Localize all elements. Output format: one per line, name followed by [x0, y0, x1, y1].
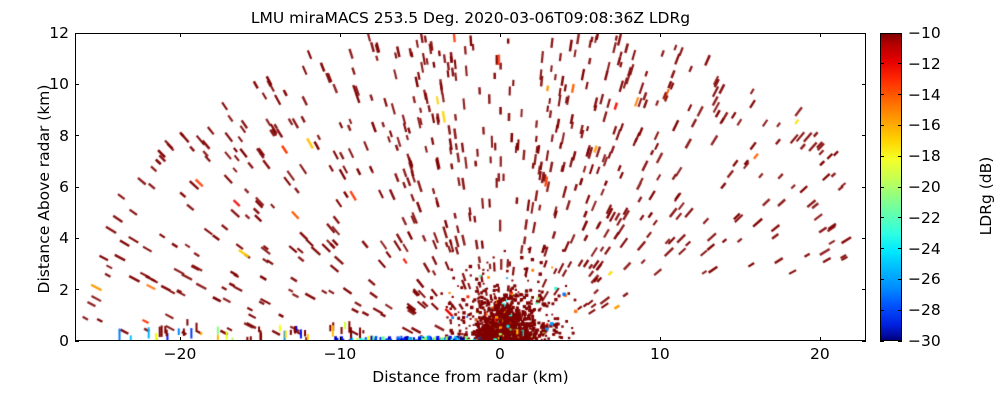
x-tick — [820, 337, 821, 341]
x-tick — [500, 33, 501, 37]
y-tick-left — [75, 341, 79, 342]
y-tick-label: 4 — [59, 229, 69, 247]
plot-axes[interactable] — [75, 33, 866, 341]
y-tick-right — [862, 289, 866, 290]
y-tick-right — [862, 187, 866, 188]
x-tick — [820, 33, 821, 37]
colorbar-tick-label: −18 — [908, 147, 941, 165]
colorbar-tick-right — [898, 94, 902, 95]
colorbar-tick-label: −28 — [908, 301, 941, 319]
y-tick-left — [75, 238, 79, 239]
y-tick-right — [862, 33, 866, 34]
x-tick — [660, 337, 661, 341]
colorbar-tick-right — [898, 341, 902, 342]
colorbar-tick-right — [898, 187, 902, 188]
x-tick-label: −20 — [164, 345, 197, 363]
y-tick-label: 6 — [59, 178, 69, 196]
x-tick-label: 0 — [495, 345, 505, 363]
y-tick-left — [75, 84, 79, 85]
colorbar-tick-right — [898, 63, 902, 64]
colorbar-tick-left — [880, 217, 884, 218]
colorbar-tick-label: −30 — [908, 332, 941, 350]
colorbar-tick-right — [898, 156, 902, 157]
colorbar-tick-left — [880, 63, 884, 64]
y-tick-label: 2 — [59, 281, 69, 299]
colorbar-tick-right — [898, 248, 902, 249]
x-tick-label: 10 — [650, 345, 670, 363]
x-tick-label: 20 — [810, 345, 830, 363]
colorbar-tick-left — [880, 33, 884, 34]
colorbar-title: LDRg (dB) — [977, 46, 995, 346]
colorbar-tick-left — [880, 94, 884, 95]
colorbar-tick-label: −10 — [908, 24, 941, 42]
y-tick-left — [75, 33, 79, 34]
x-axis-title: Distance from radar (km) — [75, 368, 866, 386]
y-tick-right — [862, 238, 866, 239]
y-tick-right — [862, 135, 866, 136]
x-tick — [340, 337, 341, 341]
colorbar-tick-right — [898, 310, 902, 311]
x-tick — [180, 33, 181, 37]
y-tick-left — [75, 289, 79, 290]
colorbar-tick-left — [880, 125, 884, 126]
colorbar-tick-left — [880, 248, 884, 249]
colorbar-tick-label: −12 — [908, 55, 941, 73]
colorbar-tick-label: −22 — [908, 209, 941, 227]
y-tick-label: 0 — [59, 332, 69, 350]
figure-title: LMU miraMACS 253.5 Deg. 2020-03-06T09:08… — [75, 9, 866, 27]
colorbar-tick-left — [880, 156, 884, 157]
x-tick — [500, 337, 501, 341]
colorbar-tick-right — [898, 217, 902, 218]
x-tick — [180, 337, 181, 341]
colorbar-tick-label: −14 — [908, 86, 941, 104]
colorbar-tick-label: −26 — [908, 270, 941, 288]
y-axis-title: Distance Above radar (km) — [35, 39, 53, 339]
colorbar-tick-right — [898, 125, 902, 126]
y-tick-right — [862, 84, 866, 85]
colorbar-tick-left — [880, 310, 884, 311]
colorbar-tick-left — [880, 341, 884, 342]
y-tick-left — [75, 135, 79, 136]
colorbar-tick-left — [880, 187, 884, 188]
scatter-canvas — [76, 34, 865, 340]
colorbar-tick-label: −24 — [908, 240, 941, 258]
colorbar-tick-label: −16 — [908, 116, 941, 134]
y-tick-left — [75, 187, 79, 188]
figure-root: LMU miraMACS 253.5 Deg. 2020-03-06T09:08… — [0, 0, 1000, 400]
colorbar-tick-right — [898, 279, 902, 280]
x-tick — [660, 33, 661, 37]
colorbar-tick-left — [880, 279, 884, 280]
y-tick-right — [862, 341, 866, 342]
colorbar-tick-right — [898, 33, 902, 34]
colorbar-tick-label: −20 — [908, 178, 941, 196]
y-tick-label: 8 — [59, 127, 69, 145]
x-tick — [340, 33, 341, 37]
x-tick-label: −10 — [324, 345, 357, 363]
